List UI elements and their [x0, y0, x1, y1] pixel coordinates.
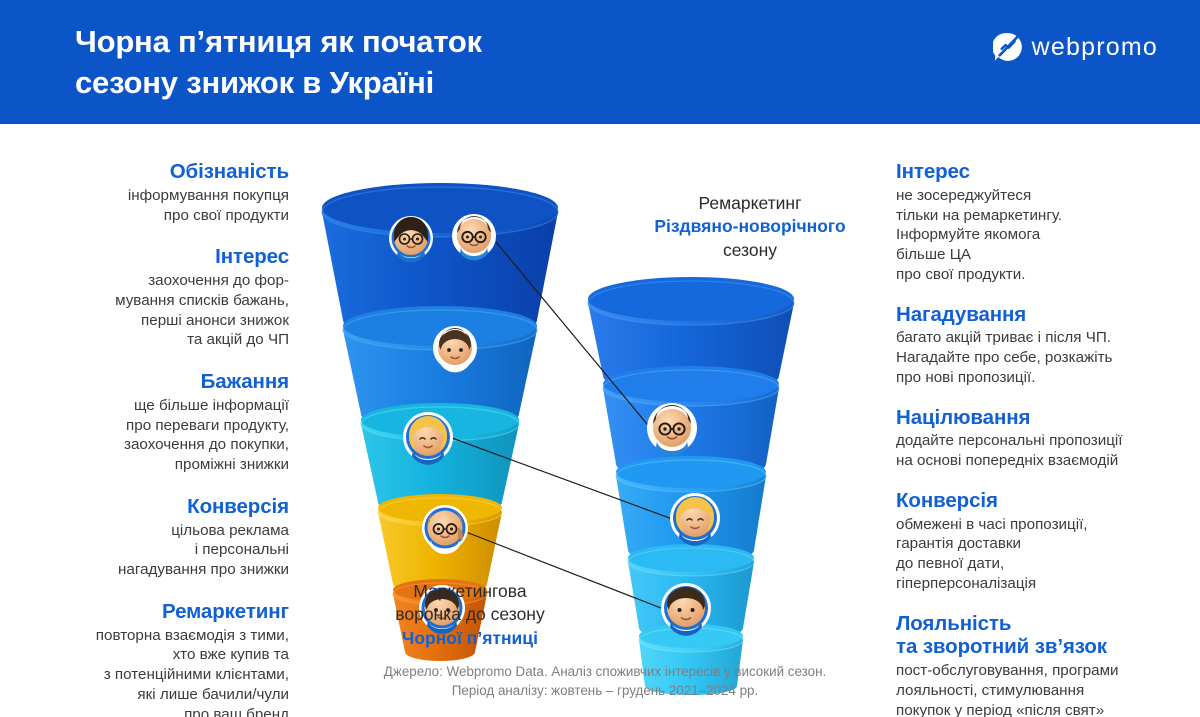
block-body: заохочення до фор- мування списків бажан…	[34, 271, 289, 350]
block-title: Обізнаність	[34, 160, 289, 184]
left-block-desire: Бажання ще більше інформації про переваг…	[34, 370, 289, 475]
left-funnel-label-line2: воронка до сезону	[395, 604, 544, 624]
right-block-loyalty: Лояльність та зворотний зв’язок пост-обс…	[896, 612, 1186, 717]
header-bar: Чорна п’ятниця як початок сезону знижок …	[0, 0, 1200, 124]
right-block-interest: Інтерес не зосереджуйтеся тільки на рема…	[896, 160, 1186, 285]
block-body: пост-обслуговування, програми лояльності…	[896, 661, 1186, 717]
block-title: Конверсія	[34, 495, 289, 519]
block-body: обмежені в часі пропозиції, гарантія дос…	[896, 515, 1186, 594]
infographic-page: Чорна п’ятниця як початок сезону знижок …	[0, 0, 1200, 717]
block-body: повторна взаємодія з тими, хто вже купив…	[34, 626, 289, 717]
block-body: ще більше інформації про переваги продук…	[34, 396, 289, 475]
block-title: Лояльність та зворотний зв’язок	[896, 612, 1186, 660]
block-body: цільова реклама і персональні нагадуванн…	[34, 521, 289, 580]
block-title: Інтерес	[896, 160, 1186, 184]
webpromo-circle-chart-icon	[993, 32, 1023, 62]
block-title: Бажання	[34, 370, 289, 394]
left-funnel-label: Маркетингова воронка до сезону Чорної п’…	[330, 580, 610, 650]
left-block-awareness: Обізнаність інформування покупця про сво…	[34, 160, 289, 225]
block-body: додайте персональні пропозиції на основі…	[896, 431, 1186, 471]
right-block-reminder: Нагадування багато акцій триває і після …	[896, 303, 1186, 388]
right-funnel-label-line2: Різдвяно-новорічного	[654, 216, 845, 236]
block-body: не зосереджуйтеся тільки на ремаркетингу…	[896, 186, 1186, 285]
left-funnel-label-line1: Маркетингова	[413, 581, 526, 601]
right-column: Інтерес не зосереджуйтеся тільки на рема…	[896, 160, 1186, 717]
right-block-targeting: Націлювання додайте персональні пропозиц…	[896, 406, 1186, 471]
right-funnel-label-line3: сезону	[723, 240, 777, 260]
block-title: Націлювання	[896, 406, 1186, 430]
right-block-conversion: Конверсія обмежені в часі пропозиції, га…	[896, 489, 1186, 594]
left-block-conversion: Конверсія цільова реклама і персональні …	[34, 495, 289, 580]
page-title: Чорна п’ятниця як початок сезону знижок …	[75, 22, 775, 104]
left-block-remarketing: Ремаркетинг повторна взаємодія з тими, х…	[34, 600, 289, 717]
page-title-line2: сезону знижок в Україні	[75, 63, 775, 104]
brand-logo[interactable]: webpromo	[993, 28, 1158, 66]
block-title: Нагадування	[896, 303, 1186, 327]
left-block-interest: Інтерес заохочення до фор- мування списк…	[34, 245, 289, 350]
block-title: Конверсія	[896, 489, 1186, 513]
brand-logo-text: webpromo	[1032, 32, 1158, 62]
source-note: Джерело: Webpromo Data. Аналіз споживчих…	[300, 662, 910, 700]
right-funnel-label-line1: Ремаркетинг	[699, 193, 802, 213]
left-funnel-label-line3: Чорної п’ятниці	[402, 628, 538, 648]
block-body: багато акцій триває і після ЧП. Нагадайт…	[896, 328, 1186, 387]
block-body: інформування покупця про свої продукти	[34, 186, 289, 226]
left-column: Обізнаність інформування покупця про сво…	[34, 160, 289, 717]
block-title: Ремаркетинг	[34, 600, 289, 624]
block-title: Інтерес	[34, 245, 289, 269]
page-title-line1: Чорна п’ятниця як початок	[75, 24, 482, 59]
right-funnel-label: Ремаркетинг Різдвяно-новорічного сезону	[620, 192, 880, 262]
